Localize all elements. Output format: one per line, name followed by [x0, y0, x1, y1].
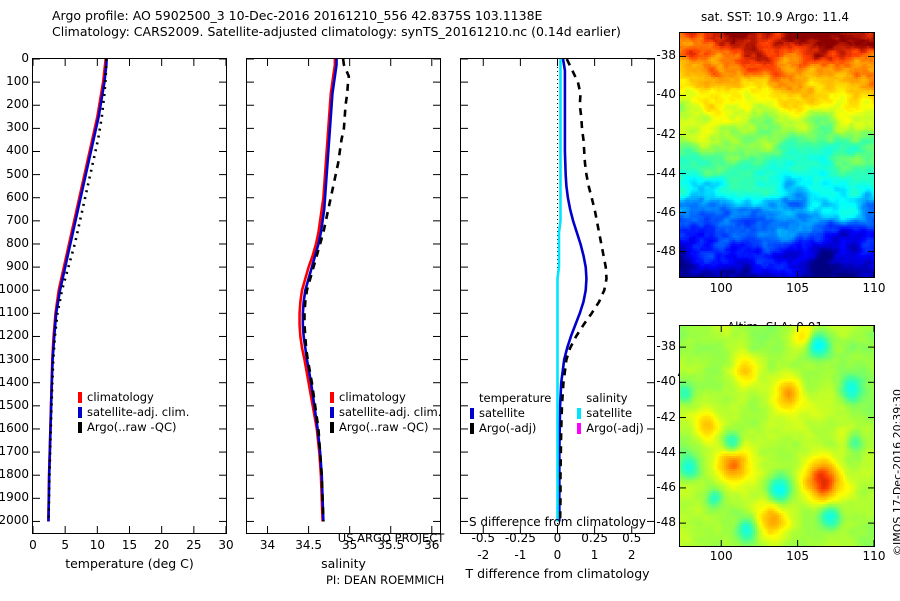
legend-swatch-climatology: [330, 392, 334, 403]
difference-t-axis-label: T difference from climatology: [461, 566, 654, 581]
y-tick-label: 2000: [0, 513, 29, 527]
y-tick-label: 1200: [0, 328, 29, 342]
y-tick-label: 1600: [0, 421, 29, 435]
legend-label-temperature-satellite: satellite: [479, 406, 525, 421]
legend-header-temperature: temperature: [470, 391, 551, 406]
legend-item-salinity-satellite: satellite: [577, 406, 643, 421]
difference-s-axis-label: S difference from climatology: [455, 515, 660, 529]
legend-label-salinity-satellite: satellite: [586, 406, 632, 421]
legend-label-argo-raw: Argo(..raw -QC): [339, 420, 429, 435]
legend-item-temperature-argo-adj: Argo(-adj): [470, 421, 551, 436]
sst-heatmap: [680, 33, 874, 277]
map-latitude-tick: -42: [656, 127, 676, 141]
y-tick-label: 900: [6, 259, 29, 273]
legend-swatch-temperature-argo-adj: [470, 423, 474, 434]
project-credit-line2: PI: DEAN ROEMMICH: [326, 573, 444, 587]
y-tick-label: 400: [6, 143, 29, 157]
legend-header-salinity: salinity: [577, 391, 643, 406]
legend-item-climatology: climatology: [330, 390, 441, 405]
legend-label-salinity-argo-adj: Argo(-adj): [586, 421, 643, 436]
legend-item-climatology: climatology: [78, 390, 189, 405]
y-tick-label: 600: [6, 190, 29, 204]
y-tick-label: 0: [21, 51, 29, 65]
difference-legend-temperature-column: temperature satellite Argo(-adj): [470, 391, 551, 436]
sst-map-title: sat. SST: 10.9 Argo: 11.4: [675, 10, 875, 25]
difference-legend: temperature satellite Argo(-adj) salinit…: [470, 391, 644, 436]
legend-swatch-climatology: [78, 392, 82, 403]
legend-label-satellite-adj: satellite-adj. clim.: [87, 405, 189, 420]
y-tick-label: 500: [6, 167, 29, 181]
temperature-legend: climatology satellite-adj. clim. Argo(..…: [78, 390, 189, 435]
legend-item-argo-raw: Argo(..raw -QC): [78, 420, 189, 435]
legend-swatch-salinity-satellite: [577, 408, 581, 419]
legend-swatch-argo-raw: [330, 422, 334, 433]
imos-credit: ©IMOS 17-Dec-2016 20:39:30: [891, 389, 900, 556]
map-latitude-tick: -42: [656, 410, 676, 424]
temperature-x-axis-label: temperature (deg C): [33, 556, 226, 571]
temperature-profile-panel: [32, 58, 227, 534]
legend-label-satellite-adj: satellite-adj. clim.: [339, 405, 441, 420]
legend-swatch-satellite-adj: [330, 407, 334, 418]
legend-swatch-salinity-argo-adj: [577, 423, 581, 434]
map-longitude-tick: 110: [824, 549, 900, 563]
temperature-profile-plot: [33, 59, 226, 533]
map-latitude-tick: -48: [656, 244, 676, 258]
legend-item-satellite-adj: satellite-adj. clim.: [78, 405, 189, 420]
salinity-profile-plot: [247, 59, 440, 533]
y-tick-label: 1100: [0, 305, 29, 319]
map-latitude-tick: -40: [656, 87, 676, 101]
y-tick-label: 700: [6, 213, 29, 227]
map-latitude-tick: -38: [656, 48, 676, 62]
legend-label-climatology: climatology: [87, 390, 154, 405]
sla-heatmap: [680, 326, 874, 546]
salinity-profile-panel: [246, 58, 441, 534]
map-latitude-tick: -38: [656, 339, 676, 353]
legend-item-temperature-satellite: satellite: [470, 406, 551, 421]
x-tick-label: 0.5: [572, 531, 692, 545]
sla-map-panel: [679, 325, 875, 547]
difference-profile-panel: [460, 58, 655, 534]
y-tick-label: 200: [6, 97, 29, 111]
legend-swatch-temperature-satellite: [470, 408, 474, 419]
map-latitude-tick: -48: [656, 515, 676, 529]
y-tick-label: 100: [6, 74, 29, 88]
legend-label-argo-raw: Argo(..raw -QC): [87, 420, 177, 435]
y-tick-label: 1000: [0, 282, 29, 296]
y-tick-label: 1500: [0, 398, 29, 412]
legend-swatch-argo-raw: [78, 422, 82, 433]
legend-label-climatology: climatology: [339, 390, 406, 405]
y-tick-label: 300: [6, 120, 29, 134]
y-tick-label: 800: [6, 236, 29, 250]
y-tick-label: 1300: [0, 352, 29, 366]
y-tick-label: 1900: [0, 490, 29, 504]
page-title-line1: Argo profile: AO 5902500_3 10-Dec-2016 2…: [52, 8, 542, 24]
y-tick-label: 1800: [0, 467, 29, 481]
map-latitude-tick: -44: [656, 166, 676, 180]
legend-item-argo-raw: Argo(..raw -QC): [330, 420, 441, 435]
legend-item-satellite-adj: satellite-adj. clim.: [330, 405, 441, 420]
difference-profile-plot: [461, 59, 654, 533]
map-latitude-tick: -46: [656, 480, 676, 494]
salinity-legend: climatology satellite-adj. clim. Argo(..…: [330, 390, 441, 435]
y-tick-label: 1700: [0, 444, 29, 458]
page-title-line2: Climatology: CARS2009. Satellite-adjuste…: [52, 24, 621, 40]
map-latitude-tick: -44: [656, 445, 676, 459]
sst-map-panel: [679, 32, 875, 278]
legend-label-temperature-argo-adj: Argo(-adj): [479, 421, 536, 436]
map-latitude-tick: -40: [656, 374, 676, 388]
legend-item-salinity-argo-adj: Argo(-adj): [577, 421, 643, 436]
map-latitude-tick: -46: [656, 205, 676, 219]
y-tick-label: 1400: [0, 375, 29, 389]
difference-legend-salinity-column: salinity satellite Argo(-adj): [577, 391, 643, 436]
legend-swatch-satellite-adj: [78, 407, 82, 418]
